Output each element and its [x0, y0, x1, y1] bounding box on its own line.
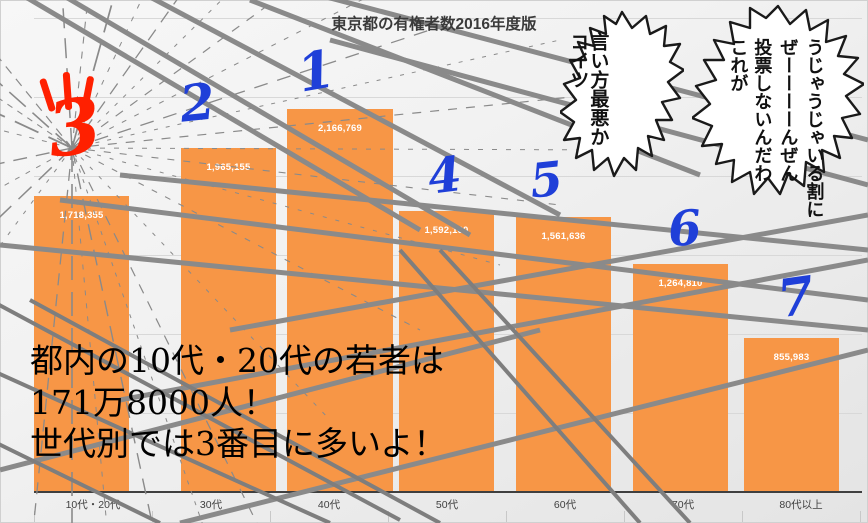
- rank-badge-3: 3: [22, 56, 132, 172]
- bar-value-label: 2,166,769: [287, 123, 393, 134]
- bar-70s[interactable]: 1,264,810: [633, 264, 728, 491]
- bar-60s[interactable]: 1,561,636: [516, 217, 611, 491]
- bubble-left-column-1: 言い方最悪か: [588, 32, 607, 184]
- x-tick-label-40s: 40代: [270, 497, 388, 512]
- bar-80s-plus[interactable]: 855,983: [744, 338, 839, 491]
- x-tick-mark: [34, 511, 35, 523]
- x-tick-mark: [860, 511, 861, 523]
- bubble-left-column-2: コイツ: [568, 32, 587, 184]
- bar-value-label: 855,983: [744, 352, 839, 363]
- x-tick-mark: [270, 511, 271, 523]
- chart-screenshot: 1,718,355 1,965,155 2,166,769 1,592,160 …: [0, 0, 868, 523]
- rank-label-4: 4: [425, 150, 464, 202]
- x-tick-mark: [152, 511, 153, 523]
- x-tick-mark: [388, 511, 389, 523]
- bar-value-label: 1,264,810: [633, 278, 728, 289]
- x-tick-mark: [742, 511, 743, 523]
- bubble-right-column-2: ぜーーーーんぜん: [778, 38, 796, 208]
- x-tick-mark: [506, 511, 507, 523]
- x-tick-label-50s: 50代: [388, 497, 506, 512]
- x-tick-label-10s-20s: 10代・20代: [34, 497, 152, 512]
- x-tick-label-70s: 70代: [624, 497, 742, 512]
- x-tick-label-60s: 60代: [506, 497, 624, 512]
- bar-value-label: 1,561,636: [516, 231, 611, 242]
- x-axis-line: [34, 491, 862, 493]
- bubble-right-column-1: うじゃうじゃいる割に: [804, 38, 822, 208]
- bar-value-label: 1,965,155: [181, 162, 276, 173]
- bar-value-label: 1,592,160: [399, 225, 494, 236]
- bar-value-label: 1,718,355: [34, 210, 129, 221]
- x-tick-label-30s: 30代: [152, 497, 270, 512]
- speech-bubble-left: 言い方最悪か コイツ: [560, 8, 684, 216]
- rank-label-7: 7: [775, 270, 818, 327]
- x-tick-mark: [624, 511, 625, 523]
- note-line-3: 世代別では3番目に多いよ！: [30, 423, 446, 465]
- x-tick-label-80s-plus: 80代以上: [742, 497, 860, 512]
- bubble-right-column-3: 投票しないんだわ: [752, 38, 770, 208]
- note-line-2: 171万8000人！: [30, 382, 446, 424]
- bubble-right-column-4: これが: [728, 38, 746, 208]
- note-line-1: 都内の10代・20代の若者は: [30, 340, 446, 382]
- rank-label-2: 2: [177, 76, 217, 129]
- annotation-note: 都内の10代・20代の若者は 171万8000人！ 世代別では3番目に多いよ！: [30, 340, 446, 465]
- rank-label-3: 3: [44, 87, 106, 169]
- speech-bubble-right: うじゃうじゃいる割に ぜーーーーんぜん 投票しないんだわ これが: [692, 2, 864, 224]
